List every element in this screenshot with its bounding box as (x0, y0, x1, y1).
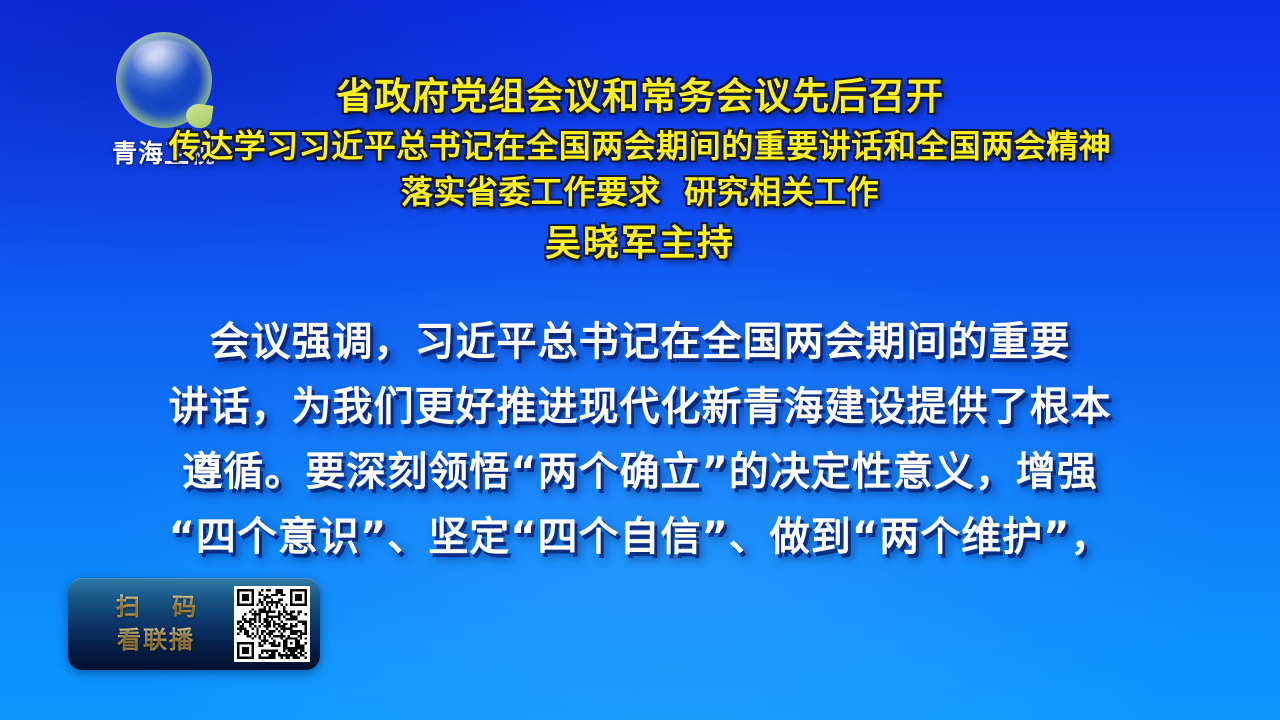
broadcast-frame: 青海卫视 省政府党组会议和常务会议先后召开 传达学习习近平总书记在全国两会期间的… (0, 0, 1280, 720)
qr-promo-caption-line-1: 扫 码 (82, 591, 230, 624)
headline-main: 省政府党组会议和常务会议先后召开 (0, 74, 1280, 120)
headline-subtitle-line-1: 传达学习习近平总书记在全国两会期间的重要讲话和全国两会精神 (0, 126, 1280, 166)
headline-block: 省政府党组会议和常务会议先后召开 传达学习习近平总书记在全国两会期间的重要讲话和… (0, 74, 1280, 266)
qr-code-icon[interactable] (234, 586, 310, 662)
headline-subtitle-line-2: 落实省委工作要求 研究相关工作 (0, 172, 1280, 212)
qr-promo-caption: 扫 码 看联播 (82, 591, 234, 657)
qr-promo-caption-line-2: 看联播 (82, 624, 230, 657)
body-line: “四个意识”、坚定“四个自信”、做到“两个维护”， (0, 505, 1280, 570)
qr-promo-panel[interactable]: 扫 码 看联播 (68, 578, 320, 670)
body-line: 遵循。要深刻领悟“两个确立”的决定性意义，增强 (0, 440, 1280, 505)
body-line: 会议强调，习近平总书记在全国两会期间的重要 (0, 310, 1280, 375)
body-block: 会议强调，习近平总书记在全国两会期间的重要 讲话，为我们更好推进现代化新青海建设… (0, 310, 1280, 570)
body-line: 讲话，为我们更好推进现代化新青海建设提供了根本 (0, 375, 1280, 440)
headline-host: 吴晓军主持 (0, 222, 1280, 266)
